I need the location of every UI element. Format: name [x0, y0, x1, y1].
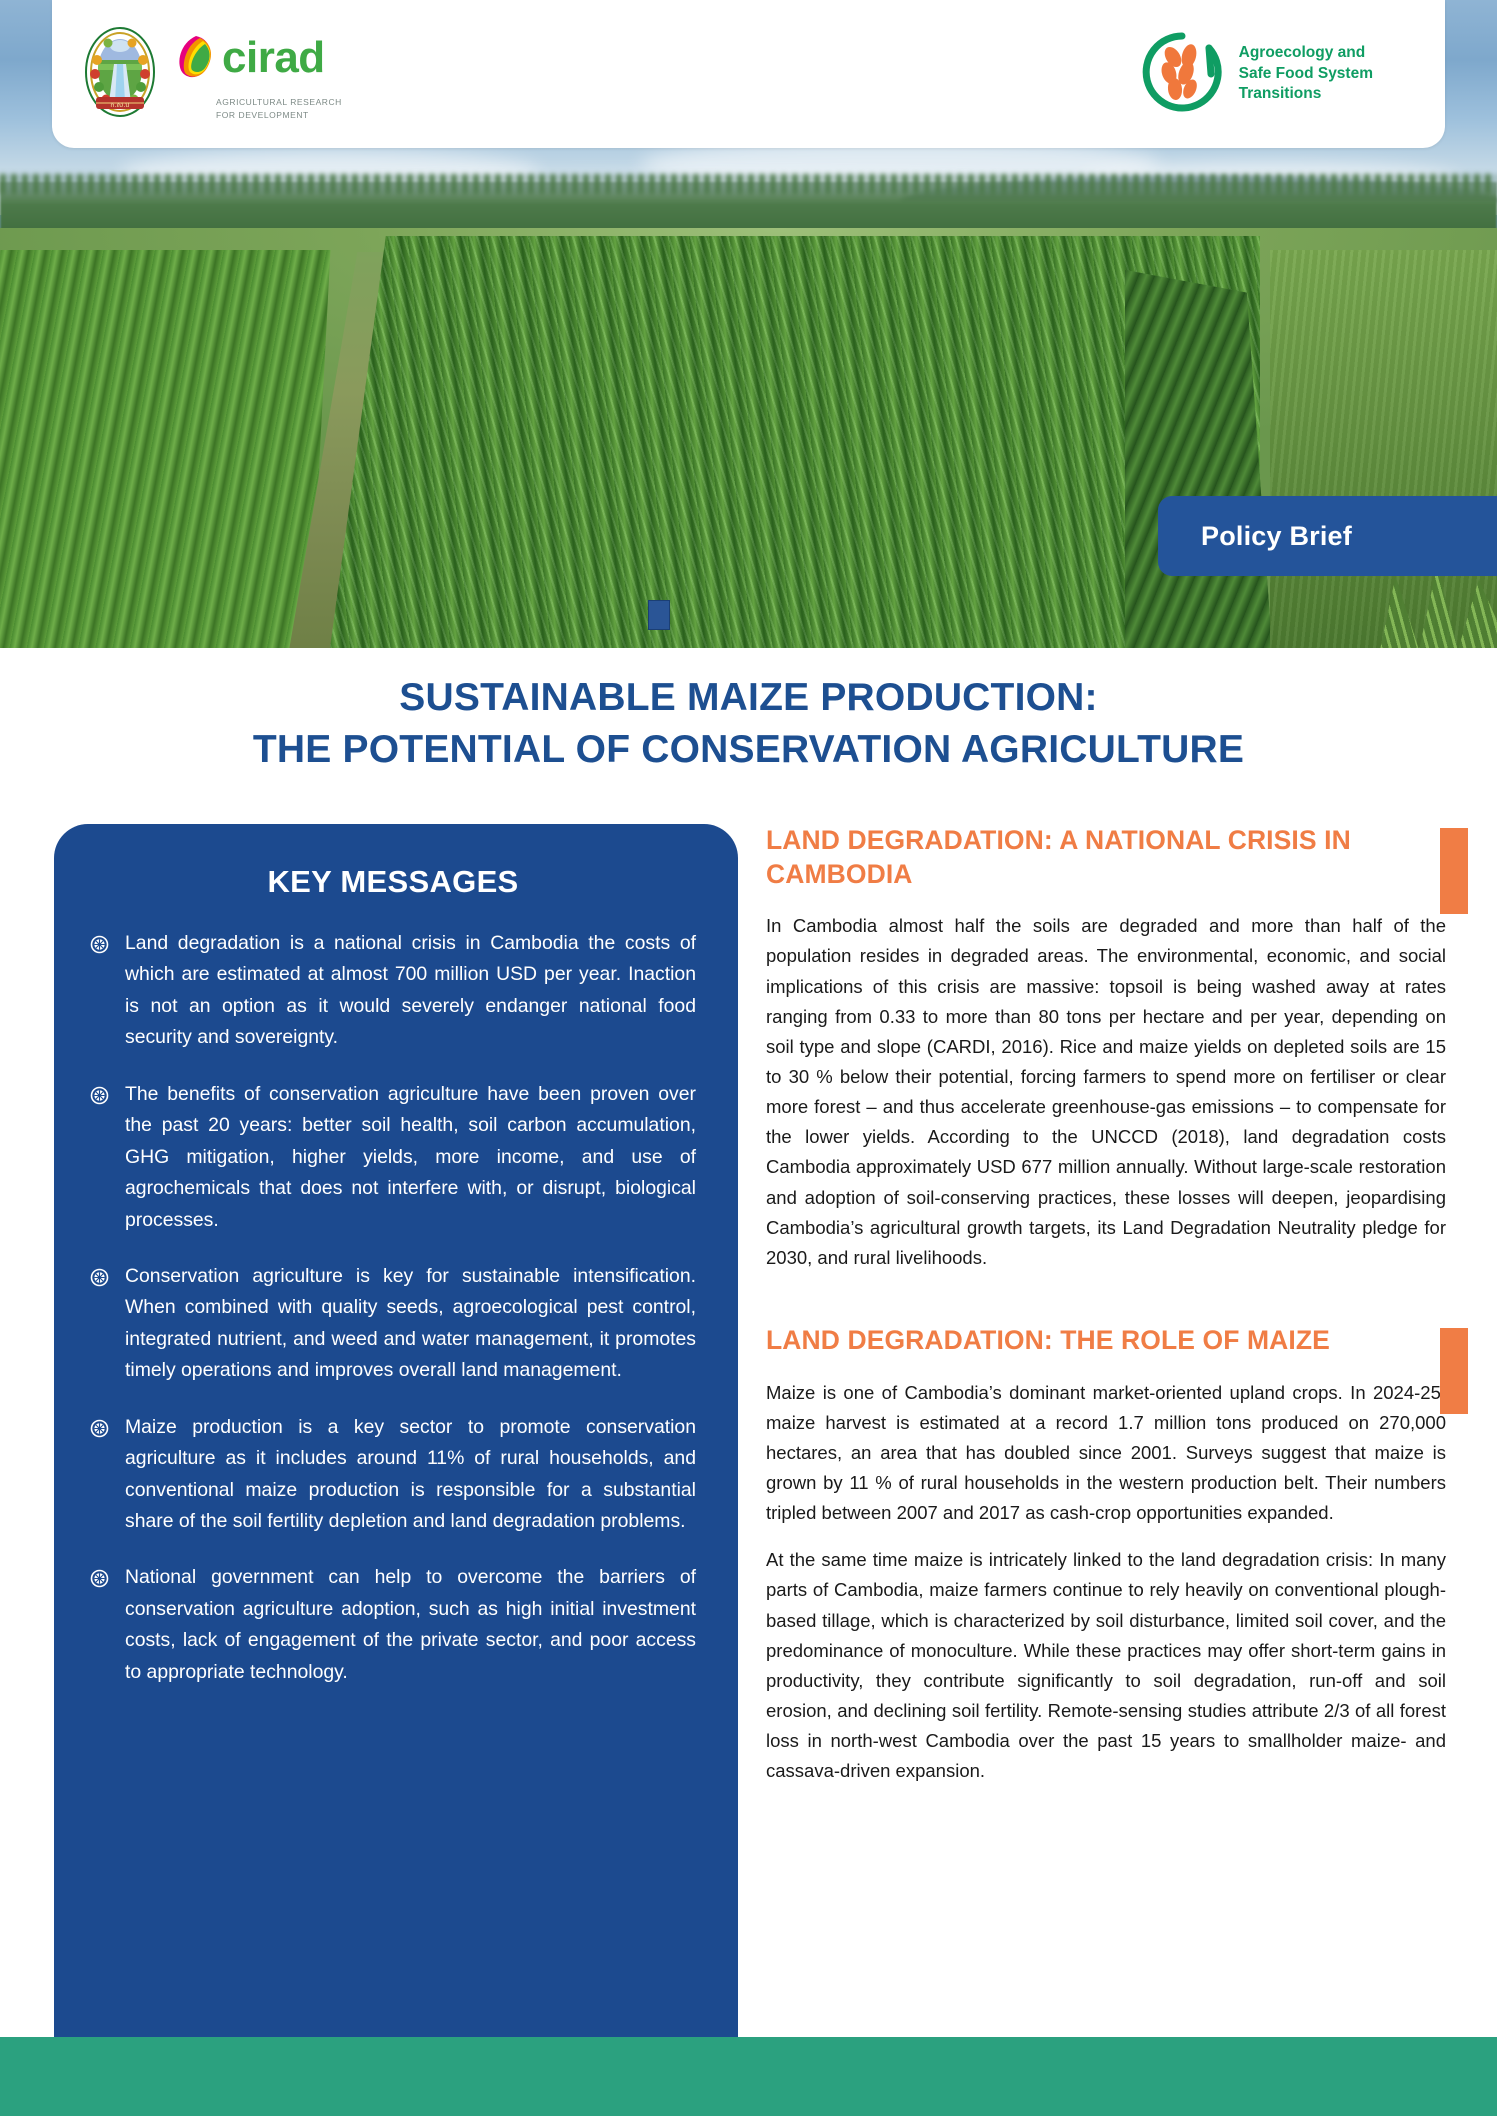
- aest-line-2: Safe Food System: [1239, 64, 1373, 85]
- key-message-item: National government can help to overcome…: [90, 1562, 696, 1688]
- agroecology-transitions-label: Agroecology and Safe Food System Transit…: [1239, 43, 1373, 105]
- globe-bullet-icon: [90, 1419, 109, 1438]
- key-message-text: Conservation agriculture is key for sust…: [125, 1261, 696, 1387]
- section-spacer: [766, 1290, 1446, 1324]
- key-message-text: Maize production is a key sector to prom…: [125, 1412, 696, 1538]
- policy-brief-page: ក.ស.ប cirad: [0, 0, 1497, 2116]
- aest-line-3: Transitions: [1239, 84, 1373, 105]
- key-message-text: The benefits of conservation agriculture…: [125, 1079, 696, 1236]
- footer-bar: [0, 2037, 1497, 2116]
- globe-bullet-icon: [90, 935, 109, 954]
- key-message-text: Land degradation is a national crisis in…: [125, 928, 696, 1054]
- section-heading-land-degradation-crisis: LAND DEGRADATION: A NATIONAL CRISIS IN C…: [766, 824, 1446, 891]
- key-messages-panel: KEY MESSAGES Land degradation is a natio…: [54, 824, 738, 2037]
- key-messages-heading: KEY MESSAGES: [90, 864, 696, 900]
- grass-strip-right: [1270, 250, 1497, 648]
- cirad-tagline-line-1: AGRICULTURAL RESEARCH: [216, 96, 386, 108]
- page-title-line-1: SUSTAINABLE MAIZE PRODUCTION:: [0, 672, 1497, 724]
- cirad-tagline-line-2: FOR DEVELOPMENT: [216, 109, 386, 121]
- cambodia-ministry-emblem-icon: ក.ស.ប: [84, 26, 156, 123]
- policy-brief-badge-label: Policy Brief: [1201, 521, 1352, 552]
- key-message-item: Land degradation is a national crisis in…: [90, 928, 696, 1054]
- orange-accent-block: [1440, 1328, 1468, 1414]
- header-panel: ក.ស.ប cirad: [52, 0, 1445, 148]
- svg-text:cirad: cirad: [222, 33, 325, 82]
- maize-rows-left: [0, 250, 330, 648]
- section-paragraph: In Cambodia almost half the soils are de…: [766, 911, 1446, 1273]
- field-sign: [648, 600, 670, 630]
- policy-brief-badge: Policy Brief: [1158, 496, 1497, 576]
- globe-bullet-icon: [90, 1268, 109, 1287]
- key-message-text: National government can help to overcome…: [125, 1562, 696, 1688]
- page-title-line-2: THE POTENTIAL OF CONSERVATION AGRICULTUR…: [0, 724, 1497, 776]
- cirad-tagline: AGRICULTURAL RESEARCH FOR DEVELOPMENT: [216, 96, 386, 121]
- section-paragraph: Maize is one of Cambodia’s dominant mark…: [766, 1378, 1446, 1529]
- globe-bullet-icon: [90, 1086, 109, 1105]
- orange-accent-block: [1440, 828, 1468, 914]
- section-paragraph: At the same time maize is intricately li…: [766, 1545, 1446, 1786]
- page-title: SUSTAINABLE MAIZE PRODUCTION: THE POTENT…: [0, 672, 1497, 776]
- logo-group-right: Agroecology and Safe Food System Transit…: [1139, 29, 1373, 120]
- cirad-mark-and-wordmark-icon: cirad: [174, 27, 386, 94]
- logo-group-left: ក.ស.ប cirad: [84, 26, 386, 123]
- aest-line-1: Agroecology and: [1239, 43, 1373, 64]
- article-column: LAND DEGRADATION: A NATIONAL CRISIS IN C…: [766, 824, 1446, 1803]
- section-heading-text: LAND DEGRADATION: THE ROLE OF MAIZE: [766, 1325, 1330, 1355]
- maize-rows-main: [330, 236, 1260, 648]
- section-heading-text: LAND DEGRADATION: A NATIONAL CRISIS IN C…: [766, 825, 1351, 889]
- globe-bullet-icon: [90, 1569, 109, 1588]
- cirad-logo: cirad AGRICULTURAL RESEARCH FOR DEVELOPM…: [174, 27, 386, 121]
- key-message-item: Maize production is a key sector to prom…: [90, 1412, 696, 1538]
- svg-text:ក.ស.ប: ក.ស.ប: [110, 102, 130, 109]
- section-heading-role-of-maize: LAND DEGRADATION: THE ROLE OF MAIZE: [766, 1324, 1446, 1358]
- key-message-item: Conservation agriculture is key for sust…: [90, 1261, 696, 1387]
- key-message-item: The benefits of conservation agriculture…: [90, 1079, 696, 1236]
- agroecology-transitions-logo-icon: [1139, 29, 1225, 120]
